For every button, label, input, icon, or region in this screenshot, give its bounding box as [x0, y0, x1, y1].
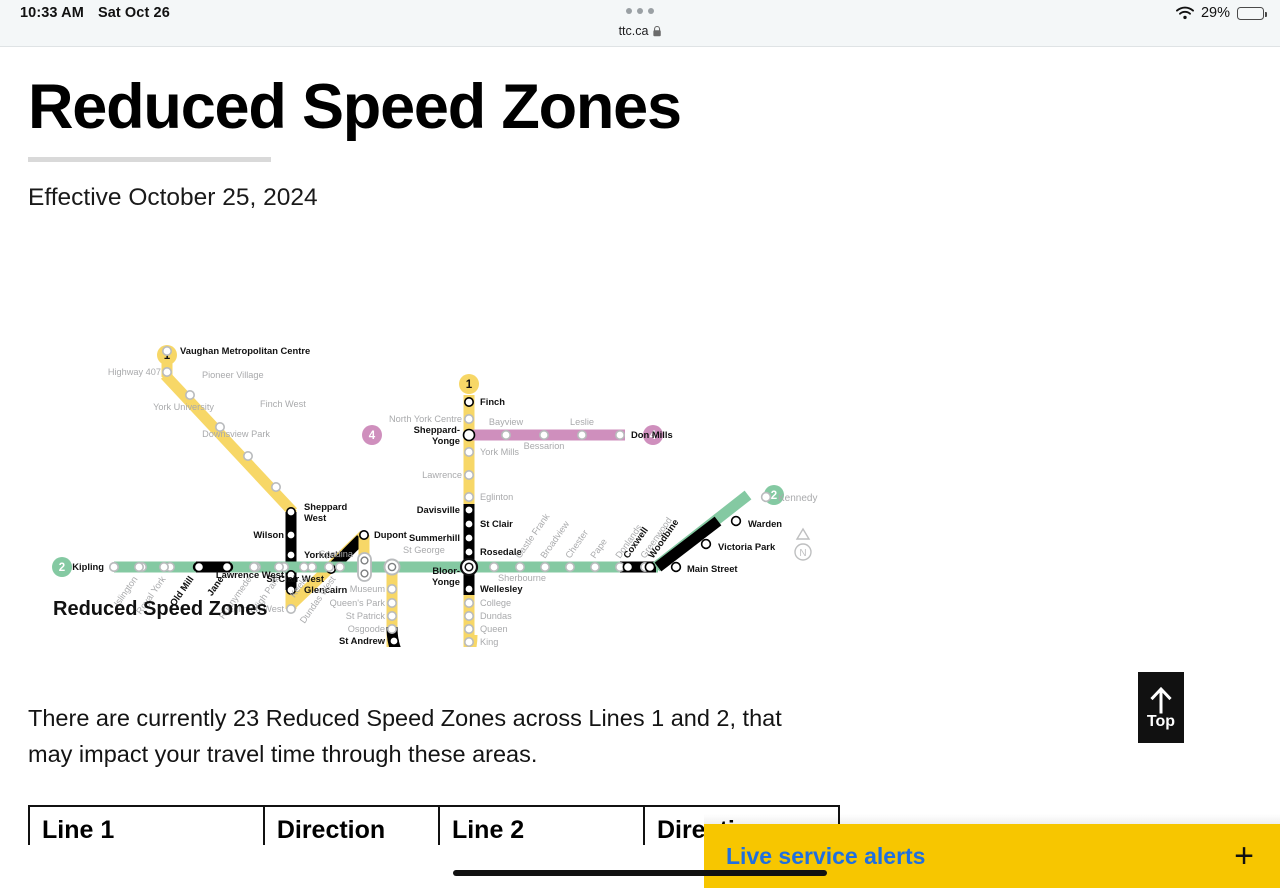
effective-date: Effective October 25, 2024 — [28, 184, 318, 212]
map-caption: Reduced Speed Zones — [53, 598, 268, 621]
page-content: Reduced Speed Zones Effective October 25… — [0, 47, 1280, 841]
lock-icon — [652, 26, 661, 37]
svg-text:Highway 407: Highway 407 — [108, 367, 161, 377]
svg-text:King: King — [480, 637, 498, 647]
station-st-george-interchange — [385, 560, 400, 575]
svg-text:St Clair: St Clair — [480, 518, 513, 529]
live-service-alerts-label: Live service alerts — [726, 843, 925, 870]
svg-text:Main Street: Main Street — [687, 563, 738, 574]
plus-icon[interactable]: + — [1234, 839, 1254, 873]
line-badge-1-finch: 1 — [459, 374, 479, 394]
svg-text:N: N — [799, 548, 806, 559]
url-text: ttc.ca — [619, 24, 649, 38]
svg-text:Davisville: Davisville — [417, 504, 460, 515]
battery-percent: 29% — [1201, 5, 1230, 21]
table-header-line1: Line 1 — [30, 807, 265, 845]
table-header-direction-1: Direction — [265, 807, 440, 845]
status-bar-left: 10:33 AM Sat Oct 26 — [20, 5, 170, 21]
status-time: 10:33 AM — [20, 5, 84, 21]
svg-text:Sheppard: Sheppard — [304, 501, 348, 512]
svg-text:Spadina: Spadina — [319, 549, 354, 559]
status-bar-right: 29% — [1176, 5, 1264, 21]
wifi-icon — [1176, 6, 1194, 20]
status-date: Sat Oct 26 — [98, 5, 170, 21]
svg-text:York University: York University — [153, 402, 214, 412]
svg-text:4: 4 — [369, 430, 376, 442]
svg-text:St Patrick: St Patrick — [346, 611, 386, 621]
svg-text:Sheppard-: Sheppard- — [414, 424, 460, 435]
svg-text:Warden: Warden — [748, 518, 782, 529]
svg-text:Finch West: Finch West — [260, 399, 306, 409]
svg-text:Bessarion: Bessarion — [524, 441, 565, 451]
svg-text:Dundas: Dundas — [480, 611, 512, 621]
address-bar[interactable]: ttc.ca — [619, 24, 662, 38]
svg-text:West: West — [304, 512, 326, 523]
svg-text:Wilson: Wilson — [253, 529, 284, 540]
svg-text:Eglinton: Eglinton — [480, 492, 513, 502]
svg-text:Bloor-: Bloor- — [432, 565, 460, 576]
svg-text:Kipling: Kipling — [72, 561, 104, 572]
back-to-top-label: Top — [1147, 713, 1175, 731]
svg-text:St George: St George — [403, 545, 445, 555]
svg-text:St Andrew: St Andrew — [339, 635, 386, 646]
home-indicator — [453, 870, 827, 876]
svg-text:Osgoode: Osgoode — [348, 624, 385, 634]
svg-text:Don Mills: Don Mills — [631, 429, 673, 440]
subway-map-svg: .l1{stroke:#f7d767;stroke-width:11;fill:… — [28, 247, 818, 647]
more-dots-icon[interactable] — [626, 8, 654, 14]
svg-text:Finch: Finch — [480, 396, 505, 407]
svg-text:Museum: Museum — [350, 584, 386, 594]
station-bloor-yonge-interchange — [461, 559, 477, 575]
svg-text:2: 2 — [771, 490, 777, 502]
svg-text:Bayview: Bayview — [489, 417, 524, 427]
svg-text:2: 2 — [59, 562, 65, 574]
svg-text:Summerhill: Summerhill — [409, 532, 460, 543]
back-to-top-button[interactable]: Top — [1138, 672, 1184, 743]
browser-chrome: 10:33 AM Sat Oct 26 ttc.ca 29% — [0, 0, 1280, 47]
svg-text:Downsview Park: Downsview Park — [202, 429, 270, 439]
svg-text:Victoria Park: Victoria Park — [718, 541, 776, 552]
svg-text:Queen: Queen — [480, 624, 508, 634]
page-title: Reduced Speed Zones — [28, 76, 681, 139]
battery-icon — [1237, 7, 1264, 20]
svg-text:Yonge: Yonge — [432, 435, 460, 446]
svg-text:York Mills: York Mills — [480, 447, 519, 457]
svg-text:Yonge: Yonge — [432, 576, 460, 587]
svg-text:Pioneer Village: Pioneer Village — [202, 370, 264, 380]
svg-text:1: 1 — [466, 379, 473, 391]
arrow-up-icon — [1149, 685, 1173, 715]
line-badge-2-kipling: 2 — [52, 557, 72, 577]
title-divider — [28, 157, 271, 162]
svg-text:Queen's Park: Queen's Park — [330, 598, 386, 608]
svg-text:Kennedy: Kennedy — [778, 493, 817, 504]
table-header-line2: Line 2 — [440, 807, 645, 845]
station-spadina-interchange — [358, 553, 371, 581]
subway-map: .l1{stroke:#f7d767;stroke-width:11;fill:… — [28, 247, 818, 647]
svg-text:Sherbourne: Sherbourne — [498, 573, 546, 583]
body-paragraph: There are currently 23 Reduced Speed Zon… — [28, 700, 818, 773]
svg-text:Wellesley: Wellesley — [480, 583, 523, 594]
svg-text:Lawrence: Lawrence — [422, 470, 462, 480]
svg-text:Dupont: Dupont — [374, 529, 407, 540]
svg-text:Vaughan Metropolitan Centre: Vaughan Metropolitan Centre — [180, 345, 310, 356]
svg-text:College: College — [480, 598, 511, 608]
line-badge-4-west: 4 — [362, 425, 382, 445]
svg-text:North York Centre: North York Centre — [389, 414, 462, 424]
svg-text:Leslie: Leslie — [570, 417, 594, 427]
live-service-alerts-bar[interactable]: Live service alerts + — [704, 824, 1280, 888]
